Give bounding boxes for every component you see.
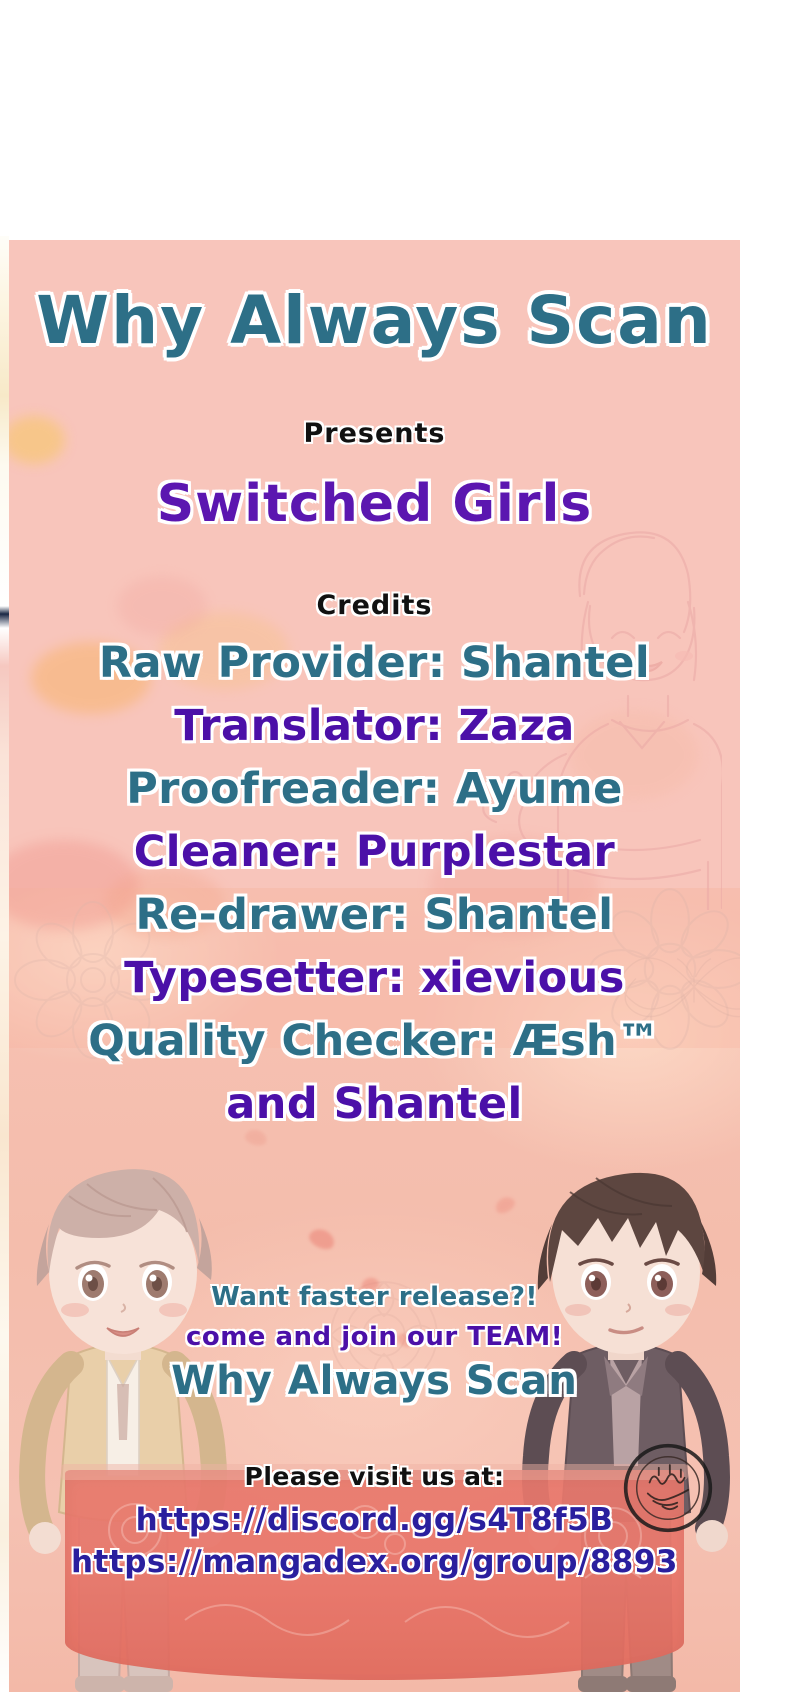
presents-label: Presents — [9, 418, 740, 449]
adjacent-page-edge — [0, 236, 9, 1692]
credit-line: Translator: Zaza — [9, 695, 740, 758]
credit-line: Proofreader: Ayume — [9, 758, 740, 821]
page-body: Why Always Scan Presents Switched Girls … — [9, 240, 740, 1692]
manga-title: Switched Girls — [9, 474, 740, 534]
credit-line: Re-drawer: Shantel — [9, 884, 740, 947]
credit-line: and Shantel — [9, 1073, 740, 1136]
credits-page: Why Always Scan Presents Switched Girls … — [0, 0, 800, 1692]
credit-line: Cleaner: Purplestar — [9, 821, 740, 884]
credit-line: Quality Checker: Æsh™ — [9, 1010, 740, 1073]
credit-line: Typesetter: xievious — [9, 947, 740, 1010]
visit-us-label: Please visit us at: — [9, 1462, 740, 1491]
recruit-line-1: Want faster release?! — [9, 1282, 740, 1312]
credit-line: Raw Provider: Shantel — [9, 632, 740, 695]
recruit-group-name: Why Always Scan — [9, 1358, 740, 1404]
credits-list: Raw Provider: ShantelTranslator: ZazaPro… — [9, 632, 740, 1136]
recruit-line-2: come and join our TEAM! — [9, 1322, 740, 1352]
scan-group-title: Why Always Scan — [9, 282, 740, 359]
discord-link[interactable]: https://discord.gg/s4T8f5B — [9, 1502, 740, 1538]
mangadex-link[interactable]: https://mangadex.org/group/8893 — [9, 1544, 740, 1580]
text-layer: Why Always Scan Presents Switched Girls … — [9, 240, 740, 1692]
credits-heading: Credits — [9, 590, 740, 621]
